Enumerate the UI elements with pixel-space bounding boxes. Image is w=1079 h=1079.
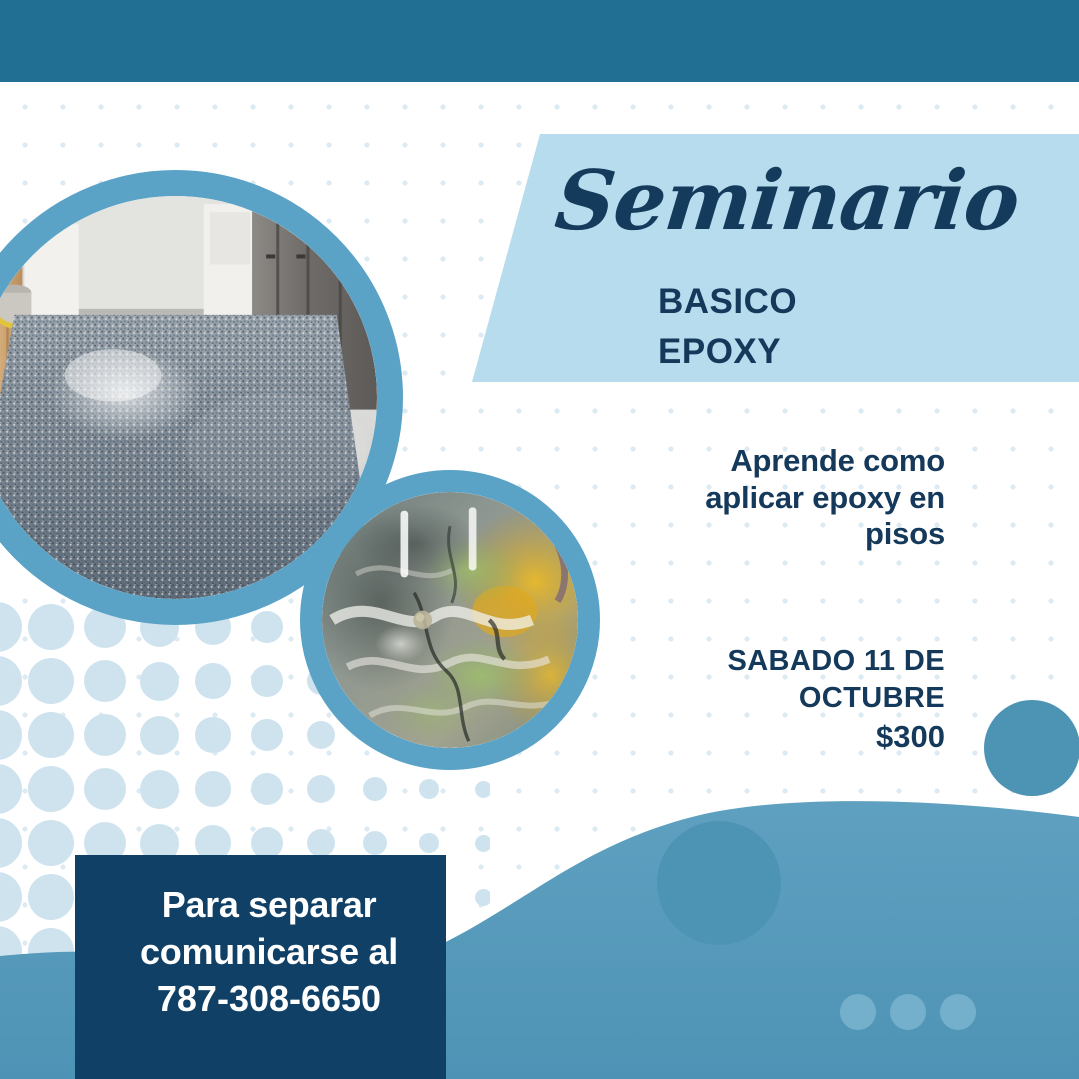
halftone-dot — [0, 602, 22, 652]
poster-canvas: Seminario BASICO EPOXY Aprende como apli… — [0, 0, 1079, 1079]
halftone-dot — [140, 716, 179, 755]
pitch-line-1: Aprende como — [610, 443, 945, 480]
halftone-dot — [140, 662, 179, 701]
pitch-text: Aprende como aplicar epoxy en pisos — [610, 443, 945, 553]
metallic-epoxy-photo — [300, 470, 600, 770]
halftone-dot — [195, 717, 230, 752]
event-price: $300 — [640, 717, 945, 757]
contact-phone-number[interactable]: 787-308-6650 — [104, 976, 434, 1023]
epoxy-flake-floor-image — [0, 196, 377, 599]
pitch-line-2: aplicar epoxy en — [610, 480, 945, 517]
halftone-dot — [251, 665, 283, 697]
wave-dot-1 — [840, 994, 876, 1030]
pitch-line-3: pisos — [610, 516, 945, 553]
halftone-dot — [0, 656, 22, 706]
subtitle-epoxy: EPOXY — [658, 332, 781, 372]
top-banner — [0, 0, 1079, 82]
halftone-dot — [84, 714, 127, 757]
wave-dot-3 — [940, 994, 976, 1030]
halftone-dot — [251, 719, 283, 751]
halftone-dot — [195, 663, 230, 698]
page-title-script: Seminario — [552, 163, 1000, 241]
halftone-dot — [28, 658, 74, 704]
decorative-circle-right — [984, 700, 1079, 796]
halftone-dot — [251, 611, 283, 643]
decorative-circle-wave — [657, 821, 781, 945]
halftone-dot — [28, 604, 74, 650]
event-details: SABADO 11 DE OCTUBRE $300 — [640, 643, 945, 757]
halftone-dot — [307, 721, 335, 749]
halftone-dot — [28, 712, 74, 758]
event-date-line-1: SABADO 11 DE — [640, 643, 945, 680]
halftone-dot — [84, 660, 127, 703]
subtitle-basico: BASICO — [658, 282, 797, 322]
contact-line-1: Para separar — [104, 882, 434, 929]
halftone-dot — [0, 710, 22, 760]
event-date-line-2: OCTUBRE — [640, 680, 945, 717]
wave-dot-2 — [890, 994, 926, 1030]
metallic-epoxy-image — [322, 492, 578, 748]
contact-line-2: comunicarse al — [104, 929, 434, 976]
contact-text: Para separar comunicarse al 787-308-6650 — [104, 882, 434, 1022]
